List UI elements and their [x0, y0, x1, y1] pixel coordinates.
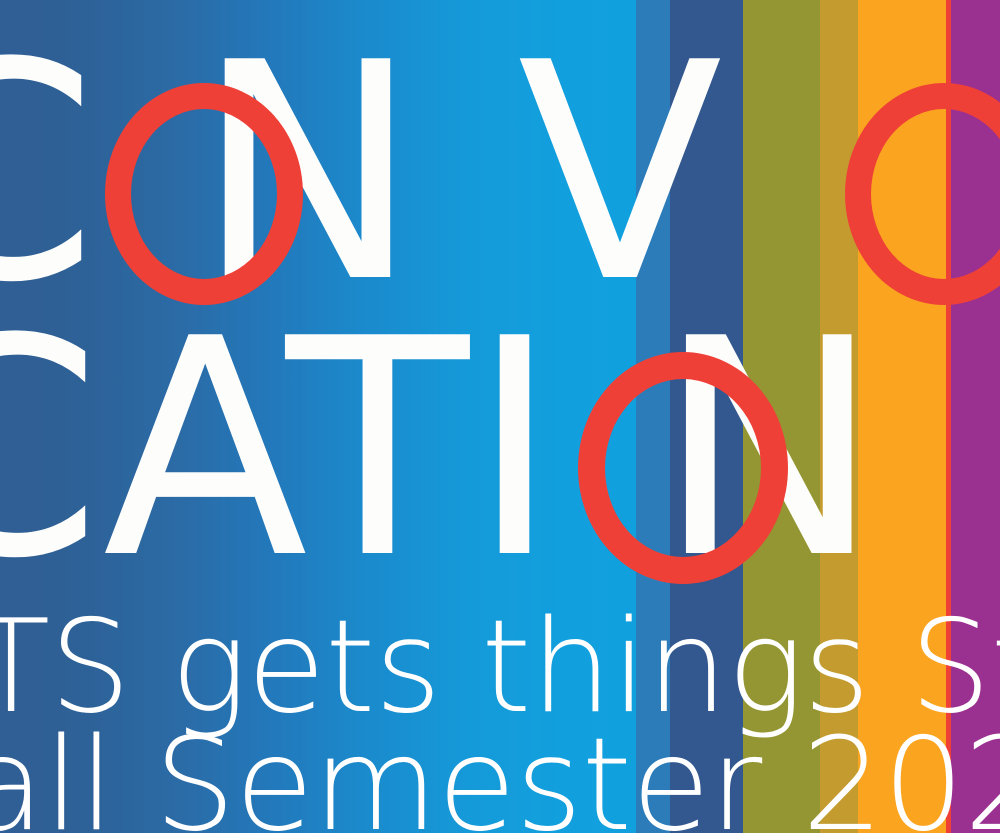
convocation-banner: C N V CATI N TS gets things Started all …	[0, 0, 1000, 833]
subtitle-line-2: all Semester 2020	[0, 722, 1000, 833]
banner-text-layer: C N V CATI N TS gets things Started all …	[0, 0, 1000, 833]
o-ring-icon-convo-right	[845, 83, 1000, 305]
o-ring-icon-cation	[578, 352, 788, 584]
o-ring-icon-convo-left	[105, 83, 303, 305]
